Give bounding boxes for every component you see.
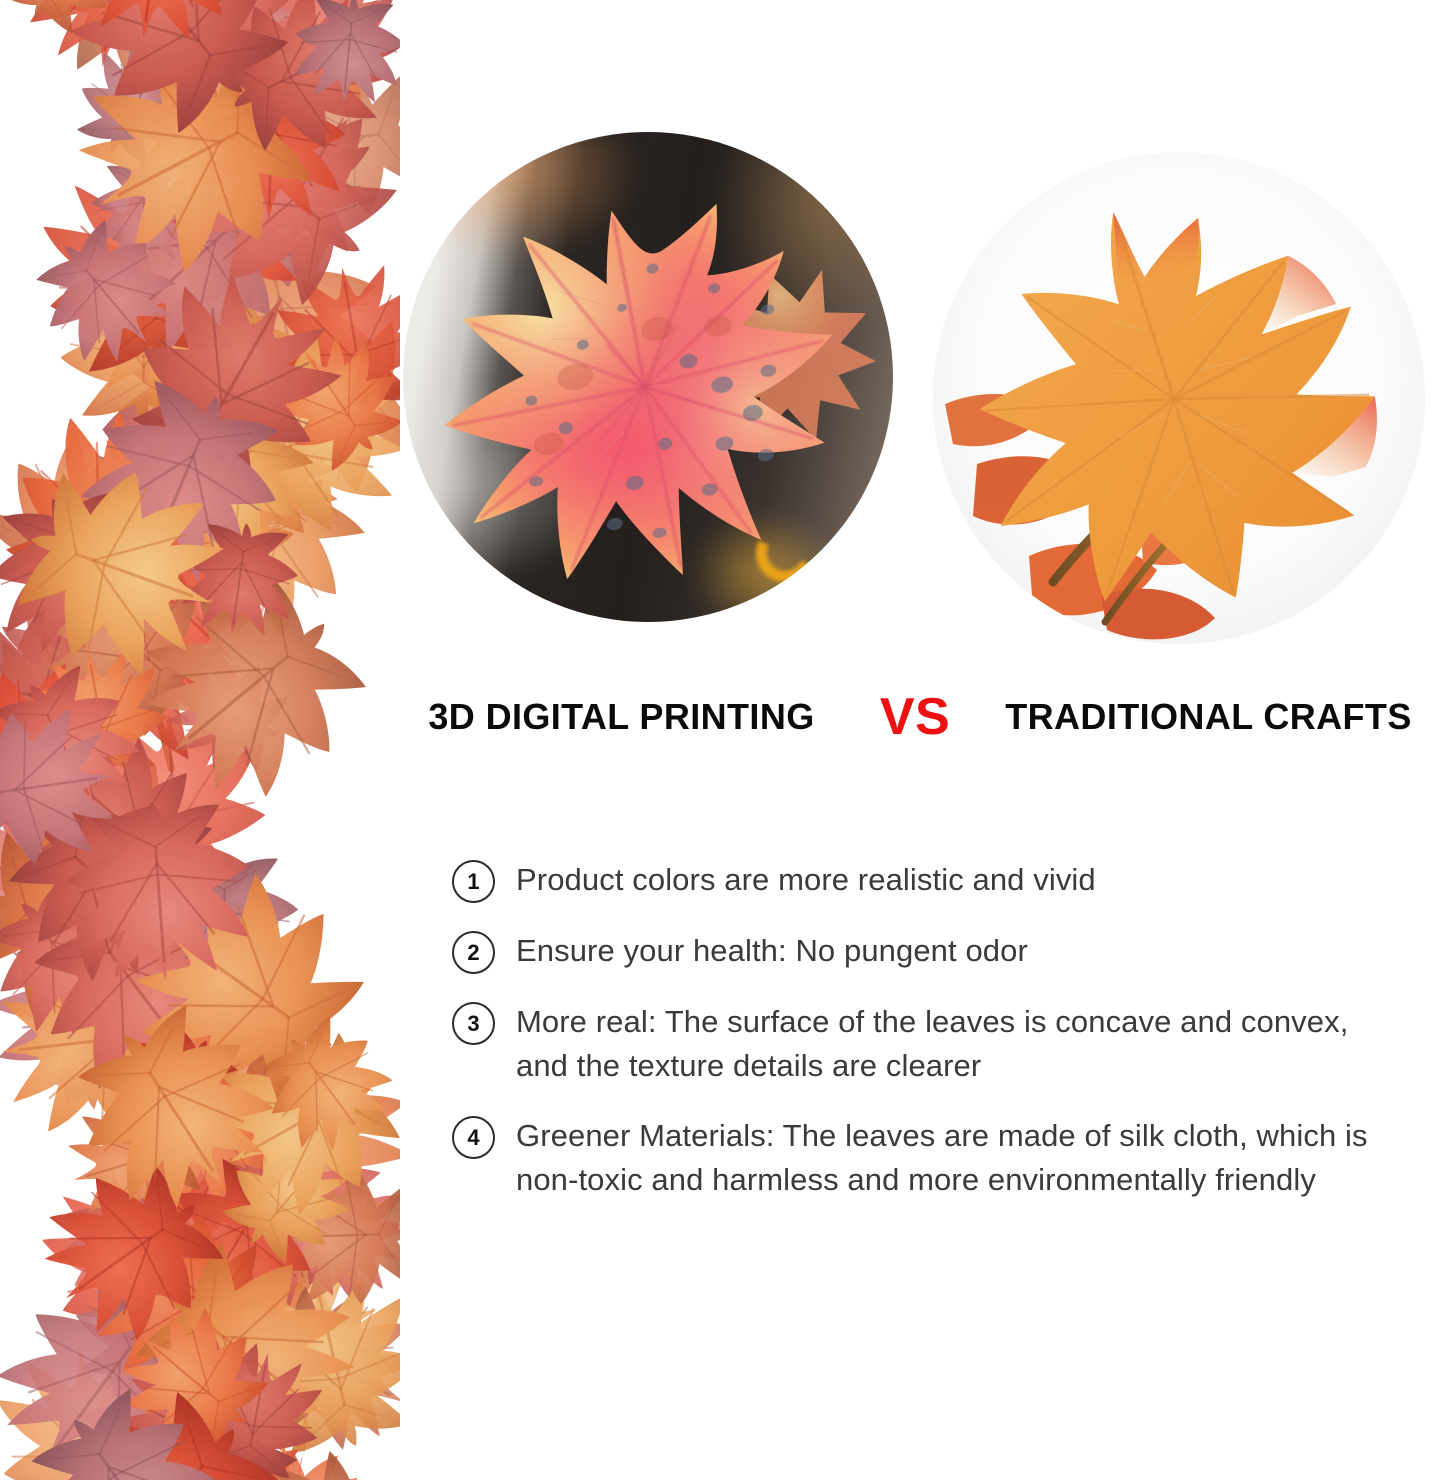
vs-label: VS bbox=[840, 687, 990, 747]
feature-text: More real: The surface of the leaves is … bbox=[516, 1000, 1392, 1088]
list-item: 2 Ensure your health: No pungent odor bbox=[452, 929, 1392, 974]
feature-number-badge: 2 bbox=[452, 931, 495, 974]
feature-list: 1 Product colors are more realistic and … bbox=[452, 858, 1392, 1228]
garland-leaf bbox=[287, 0, 400, 112]
list-item: 1 Product colors are more realistic and … bbox=[452, 858, 1392, 903]
heading-traditional-crafts: TRADITIONAL CRAFTS bbox=[990, 695, 1427, 739]
3d-digital-printing-photo bbox=[403, 132, 893, 622]
feature-text: Ensure your health: No pungent odor bbox=[516, 929, 1028, 973]
infographic-page: 3D DIGITAL PRINTING VS TRADITIONAL CRAFT… bbox=[0, 0, 1445, 1480]
feature-number-badge: 1 bbox=[452, 860, 495, 903]
list-item: 4 Greener Materials: The leaves are made… bbox=[452, 1114, 1392, 1202]
traditional-crafts-photo bbox=[933, 152, 1425, 644]
feature-text: Greener Materials: The leaves are made o… bbox=[516, 1114, 1392, 1202]
feature-number-badge: 3 bbox=[452, 1002, 495, 1045]
garland-leaf bbox=[0, 698, 128, 876]
list-item: 3 More real: The surface of the leaves i… bbox=[452, 1000, 1392, 1088]
plain-orange-leaf-graphic bbox=[933, 152, 1425, 644]
feature-number-badge: 4 bbox=[452, 1116, 495, 1159]
feature-text: Product colors are more realistic and vi… bbox=[516, 858, 1096, 902]
comparison-headings-row: 3D DIGITAL PRINTING VS TRADITIONAL CRAFT… bbox=[403, 662, 1427, 772]
autumn-leaf-garland-image bbox=[0, 0, 400, 1480]
heading-3d-digital-printing: 3D DIGITAL PRINTING bbox=[403, 695, 840, 739]
realistic-maple-leaf-graphic bbox=[403, 132, 893, 622]
